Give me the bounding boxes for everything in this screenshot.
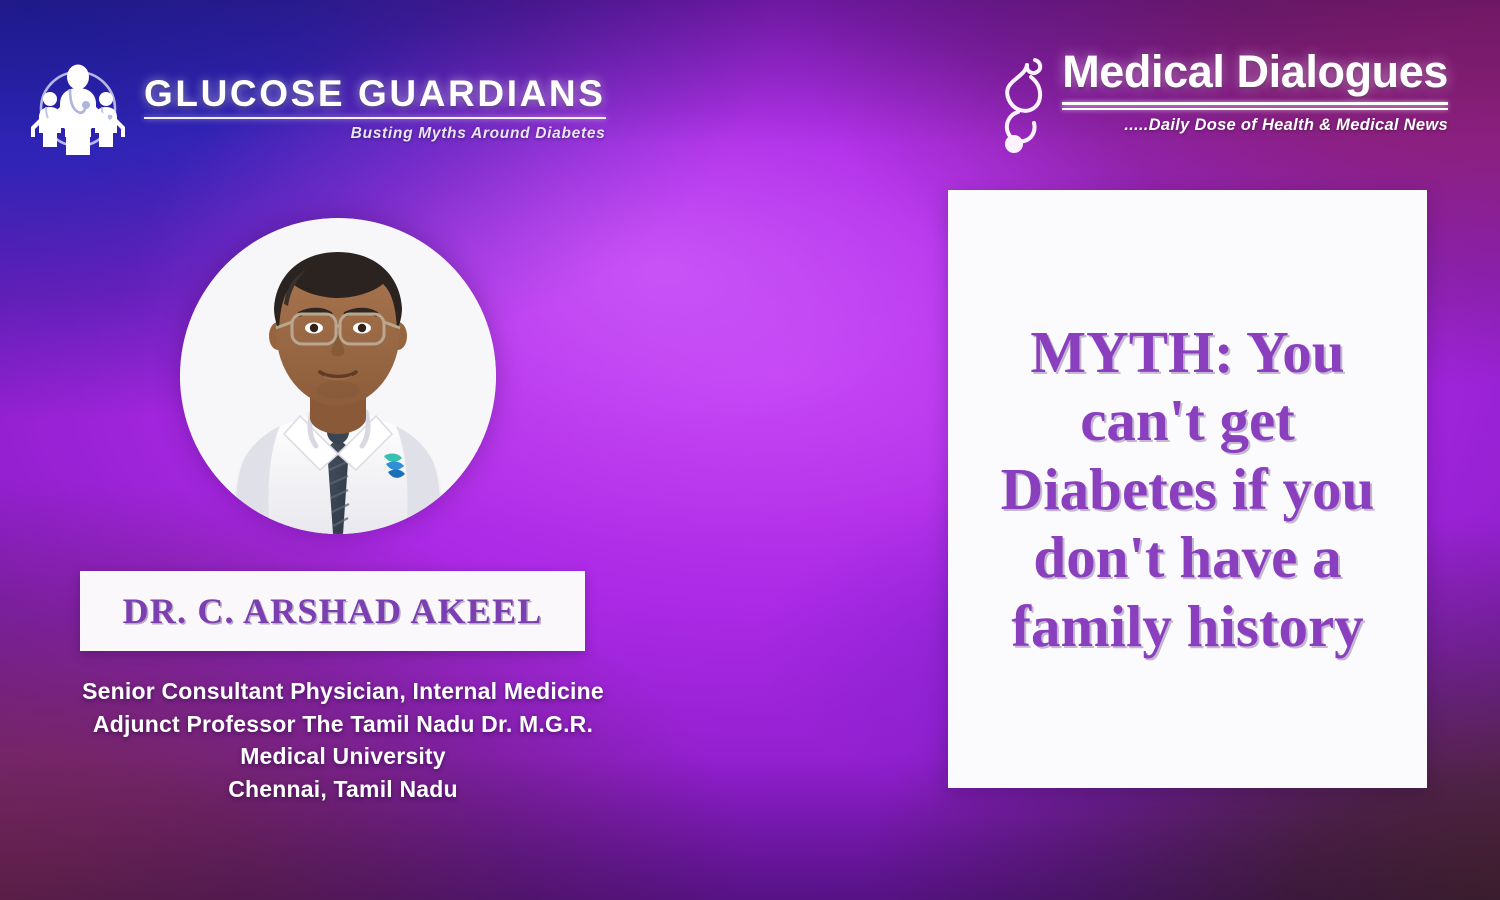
- doctor-portrait: [180, 218, 496, 534]
- medical-dialogues-text: Medical Dialogues .....Daily Dose of Hea…: [1062, 48, 1448, 135]
- doctor-name: DR. C. ARSHAD AKEEL: [123, 590, 543, 632]
- myth-statement: MYTH: You can't get Diabetes if you don'…: [966, 318, 1409, 660]
- stethoscope-icon: [994, 50, 1056, 158]
- credential-line: Medical University: [20, 740, 666, 773]
- medical-dialogues-tagline: .....Daily Dose of Health & Medical News: [1062, 116, 1448, 135]
- poster-canvas: GLUCOSE GUARDIANS Busting Myths Around D…: [0, 0, 1500, 900]
- glucose-guardians-text: GLUCOSE GUARDIANS Busting Myths Around D…: [144, 71, 606, 142]
- doctor-credentials: Senior Consultant Physician, Internal Me…: [20, 675, 666, 806]
- glucose-guardians-title: GLUCOSE GUARDIANS: [144, 75, 606, 113]
- glucose-guardians-tagline: Busting Myths Around Diabetes: [144, 125, 606, 143]
- medical-dialogues-title: Medical Dialogues: [1062, 48, 1448, 97]
- credential-line: Adjunct Professor The Tamil Nadu Dr. M.G…: [20, 708, 666, 741]
- myth-panel: MYTH: You can't get Diabetes if you don'…: [948, 190, 1427, 788]
- credential-line: Senior Consultant Physician, Internal Me…: [20, 675, 666, 708]
- glucose-guardians-rule: [144, 117, 606, 119]
- medical-dialogues-rule-top: [1062, 102, 1448, 105]
- medical-dialogues-rule-bottom: [1062, 108, 1448, 110]
- three-doctors-circle-icon: [26, 55, 130, 159]
- doctor-name-plate: DR. C. ARSHAD AKEEL: [80, 571, 585, 651]
- glucose-guardians-brand: GLUCOSE GUARDIANS Busting Myths Around D…: [26, 52, 496, 162]
- medical-dialogues-brand: Medical Dialogues .....Daily Dose of Hea…: [994, 48, 1448, 166]
- credential-line: Chennai, Tamil Nadu: [20, 773, 666, 806]
